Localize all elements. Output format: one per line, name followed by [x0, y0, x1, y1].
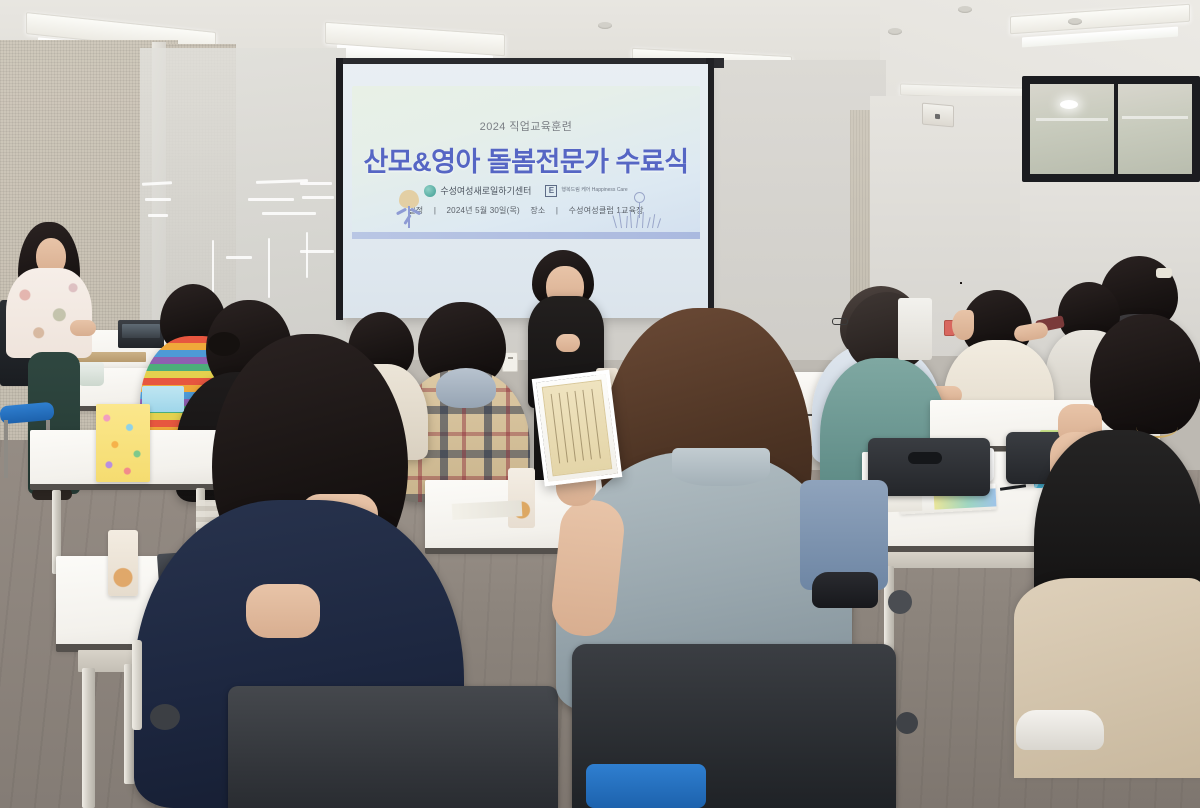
- chair-backrest: [228, 686, 558, 808]
- projection-screen-edge-left: [336, 58, 343, 320]
- classroom-ceremony-photo: 2024 직업교육훈련 산모&영아 돌봄전문가 수료식 수성여성새로일하기센터 …: [0, 0, 1200, 808]
- glass-reflection-line: [302, 196, 334, 199]
- window-pane-right: [1118, 84, 1192, 174]
- sprinkler-head: [1068, 18, 1082, 25]
- wall-speaker: [922, 103, 954, 128]
- glass-reflection-line: [148, 214, 168, 217]
- staff-torso-floral-blouse: [6, 268, 92, 358]
- slide-meta-separator-2: |: [556, 206, 558, 215]
- sprinkler-head: [958, 6, 972, 13]
- desk-leg: [82, 668, 95, 808]
- framed-certificate: [532, 370, 623, 487]
- chair-caster: [896, 712, 918, 734]
- attendee-hair: [960, 282, 962, 284]
- organization-primary: 수성여성새로일하기센터: [424, 184, 531, 197]
- hair-clip: [1156, 268, 1172, 278]
- presenter-hands: [556, 334, 580, 352]
- attendee-collar: [672, 448, 770, 486]
- tulip-illustration-icon: [392, 190, 426, 230]
- slide-date-value: 2024년 5월 30일(목): [447, 206, 520, 215]
- slide-place-label: 장소: [530, 206, 545, 215]
- slide-meta-separator: |: [434, 206, 436, 215]
- snack-canister: [108, 530, 138, 596]
- chair-caster: [888, 590, 912, 614]
- sketch-flower-illustration-icon: [612, 192, 664, 232]
- window-pane-left: [1030, 84, 1114, 174]
- slide-kicker-text: 2024 직업교육훈련: [352, 118, 700, 134]
- sprinkler-head: [888, 28, 902, 35]
- globe-logo-icon: [424, 185, 436, 197]
- slide-bottom-band: [352, 232, 700, 239]
- glass-reflection-line: [268, 238, 270, 298]
- water-dispenser: [898, 298, 932, 360]
- glass-mug: [78, 362, 104, 386]
- sprinkler-head: [598, 22, 612, 29]
- chair-seat: [586, 764, 706, 808]
- attendee-glasses-icon: [832, 318, 848, 325]
- glass-reflection-line: [300, 182, 332, 185]
- attendee-arm: [246, 584, 320, 638]
- attendee-face-profile: [952, 310, 974, 340]
- attendee-shoe: [1016, 710, 1104, 750]
- chair-back-slot: [908, 452, 942, 464]
- glass-reflection-line: [262, 212, 316, 215]
- chair-caster: [150, 704, 180, 730]
- attendee-hood: [436, 368, 496, 408]
- chair-base-leg: [132, 640, 142, 730]
- interior-window: [1022, 76, 1200, 182]
- gift-bag-yellow: [96, 404, 150, 482]
- glass-reflection-line: [306, 232, 308, 278]
- square-mark-logo-icon: E: [545, 185, 557, 197]
- glass-reflection-line: [145, 198, 171, 201]
- window-reflection: [1122, 116, 1188, 119]
- window-reflection: [1036, 118, 1108, 121]
- glass-reflection-line: [226, 256, 252, 259]
- slide-title: 산모&영아 돌봄전문가 수료식: [352, 140, 700, 179]
- staff-hand: [70, 320, 96, 336]
- hair-scrunchie: [208, 332, 240, 356]
- laptop-screen-glow: [122, 324, 160, 338]
- glass-reflection-line: [248, 198, 294, 201]
- certificate-parchment: [542, 380, 613, 477]
- window-ceiling-light-reflection: [1060, 100, 1078, 109]
- organization-name: 수성여성새로일하기센터: [440, 184, 531, 197]
- glass-reflection-line: [300, 250, 334, 253]
- snack-canister: [508, 468, 535, 528]
- attendee-sneaker: [812, 572, 878, 608]
